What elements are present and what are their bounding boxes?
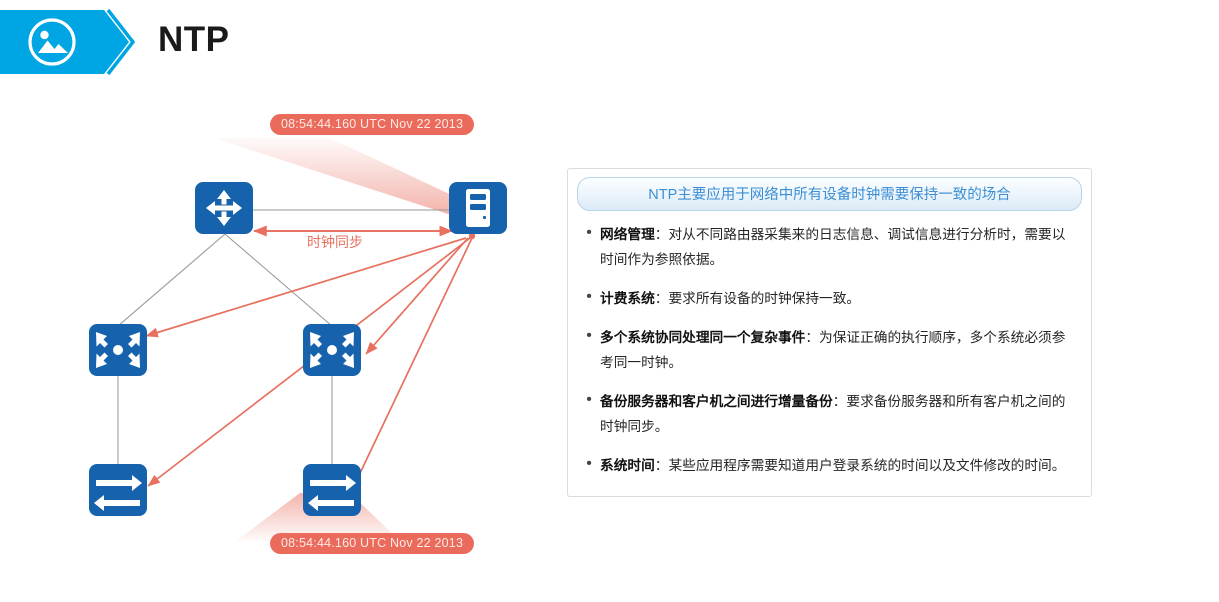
arrow-server-to-l3-left — [146, 238, 466, 336]
info-panel-title: NTP主要应用于网络中所有设备时钟需要保持一致的场合 — [577, 177, 1082, 211]
info-panel: NTP主要应用于网络中所有设备时钟需要保持一致的场合 • 网络管理：对从不同路由… — [567, 168, 1092, 497]
list-item-term: 备份服务器和客户机之间进行增量备份 — [600, 394, 833, 409]
page-header: NTP — [0, 8, 1219, 76]
header-badge — [0, 8, 135, 76]
physical-links — [118, 210, 452, 466]
bullet-marker-icon: • — [578, 222, 600, 244]
list-item-text: 多个系统协同处理同一个复杂事件：为保证正确的执行顺序，多个系统必须参考同一时钟。 — [600, 325, 1077, 375]
list-item-text: 系统时间：某些应用程序需要知道用户登录系统的时间以及文件修改的时间。 — [600, 453, 1077, 478]
l3-switch-right-node — [303, 324, 361, 376]
list-item-term: 系统时间 — [600, 458, 655, 473]
list-item-text: 备份服务器和客户机之间进行增量备份：要求备份服务器和所有客户机之间的时钟同步。 — [600, 389, 1077, 439]
list-item-separator: ： — [655, 227, 669, 242]
list-item-term: 多个系统协同处理同一个复杂事件 — [600, 330, 805, 345]
timestamp-label-bottom: 08:54:44.160 UTC Nov 22 2013 — [270, 533, 474, 554]
bullet-marker-icon: • — [578, 286, 600, 308]
list-item-separator: ： — [655, 458, 669, 473]
list-item-desc: 某些应用程序需要知道用户登录系统的时间以及文件修改的时间。 — [668, 458, 1065, 473]
arrow-server-to-l2-right — [352, 238, 472, 490]
ntp-server-node — [449, 182, 507, 234]
list-item-text: 计费系统：要求所有设备的时钟保持一致。 — [600, 286, 1077, 311]
info-panel-title-wrap: NTP主要应用于网络中所有设备时钟需要保持一致的场合 — [568, 169, 1091, 218]
list-item: • 备份服务器和客户机之间进行增量备份：要求备份服务器和所有客户机之间的时钟同步… — [578, 389, 1077, 439]
list-item: • 系统时间：某些应用程序需要知道用户登录系统的时间以及文件修改的时间。 — [578, 453, 1077, 478]
arrow-server-to-l3-right — [366, 238, 468, 354]
l2-switch-left-node — [89, 464, 147, 516]
list-item-term: 网络管理 — [600, 227, 655, 242]
page-title: NTP — [158, 20, 230, 60]
list-item: • 多个系统协同处理同一个复杂事件：为保证正确的执行顺序，多个系统必须参考同一时… — [578, 325, 1077, 375]
bullet-marker-icon: • — [578, 453, 600, 475]
list-item-separator: ： — [805, 330, 819, 345]
list-item: • 计费系统：要求所有设备的时钟保持一致。 — [578, 286, 1077, 311]
list-item-desc: 对从不同路由器采集来的日志信息、调试信息进行分析时，需要以时间作为参照依据。 — [600, 227, 1065, 267]
list-item-desc: 要求所有设备的时钟保持一致。 — [668, 291, 860, 306]
network-topology-diagram — [0, 86, 560, 586]
info-panel-body: • 网络管理：对从不同路由器采集来的日志信息、调试信息进行分析时，需要以时间作为… — [568, 218, 1091, 496]
bullet-marker-icon: • — [578, 325, 600, 347]
l2-switch-right-node — [303, 464, 361, 516]
timestamp-label-top: 08:54:44.160 UTC Nov 22 2013 — [270, 114, 474, 135]
list-item-text: 网络管理：对从不同路由器采集来的日志信息、调试信息进行分析时，需要以时间作为参照… — [600, 222, 1077, 272]
clock-sync-label: 时钟同步 — [307, 232, 363, 252]
list-item: • 网络管理：对从不同路由器采集来的日志信息、调试信息进行分析时，需要以时间作为… — [578, 222, 1077, 272]
list-item-term: 计费系统 — [600, 291, 655, 306]
server-icon — [466, 189, 490, 227]
router-node — [195, 182, 253, 234]
list-item-separator: ： — [833, 394, 847, 409]
list-item-separator: ： — [655, 291, 669, 306]
bullet-marker-icon: • — [578, 389, 600, 411]
l3-switch-left-node — [89, 324, 147, 376]
